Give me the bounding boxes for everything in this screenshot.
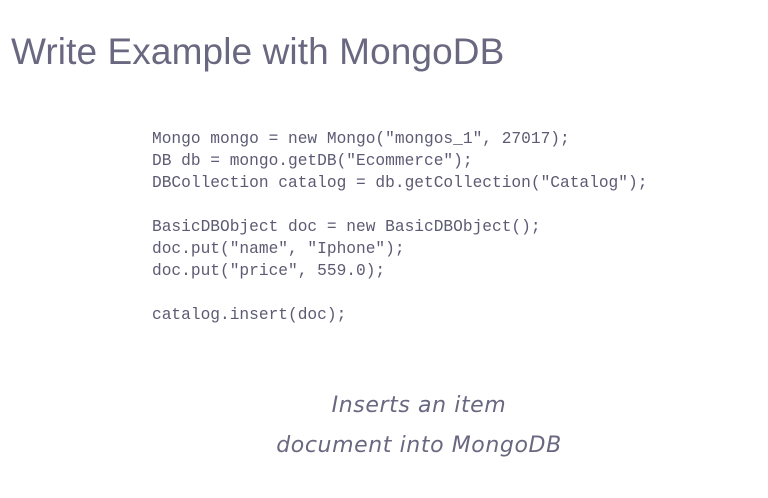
slide-canvas: Write Example with MongoDB Mongo mongo =… <box>0 0 768 498</box>
code-line: BasicDBObject doc = new BasicDBObject(); <box>152 216 647 238</box>
code-line: doc.put("price", 559.0); <box>152 260 647 282</box>
code-line: Mongo mongo = new Mongo("mongos_1", 2701… <box>152 128 647 150</box>
code-line: catalog.insert(doc); <box>152 304 647 326</box>
code-line: doc.put("name", "Iphone"); <box>152 238 647 260</box>
code-line: DB db = mongo.getDB("Ecommerce"); <box>152 150 647 172</box>
code-block: Mongo mongo = new Mongo("mongos_1", 2701… <box>152 128 647 326</box>
code-line: DBCollection catalog = db.getCollection(… <box>152 172 647 194</box>
code-line-blank <box>152 282 647 304</box>
page-title: Write Example with MongoDB <box>11 31 504 74</box>
annotation-line: Inserts an item <box>0 386 768 426</box>
code-line-blank <box>152 194 647 216</box>
annotation-line: document into MongoDB <box>0 426 768 466</box>
handwritten-annotation: Inserts an item document into MongoDB <box>0 386 768 466</box>
